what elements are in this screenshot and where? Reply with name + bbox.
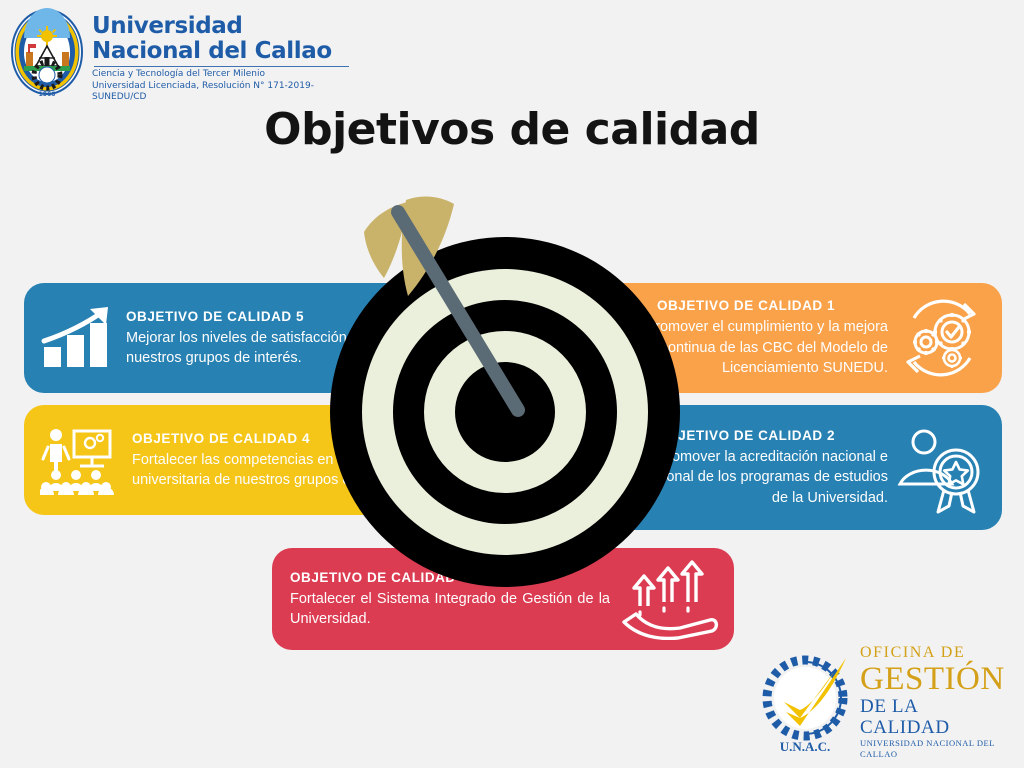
person-award-medal-icon — [894, 422, 986, 514]
wordmark-divider — [94, 66, 349, 67]
university-wordmark: Universidad Nacional del Callao Ciencia … — [92, 8, 368, 104]
ogc-line4: UNIVERSIDAD NACIONAL DEL CALLAO — [860, 738, 1010, 760]
ogc-line2: GESTIÓN — [860, 662, 1010, 696]
ogc-acronym: U.N.A.C. — [780, 739, 831, 754]
bar-chart-growth-icon — [40, 305, 116, 371]
university-name-line1: Universidad — [92, 14, 368, 39]
objective-card-3-body: Fortalecer el Sistema Integrado de Gesti… — [290, 589, 610, 630]
infographic-canvas: 1966 Universidad Nacional del Callao Cie… — [0, 0, 1024, 768]
ogc-wordmark: OFICINA DE GESTIÓN DE LA CALIDAD UNIVERS… — [860, 644, 1010, 760]
ogc-seal-icon: U.N.A.C. — [760, 650, 856, 754]
ogc-line3: DE LA CALIDAD — [860, 696, 1010, 738]
university-tagline-1: Ciencia y Tecnología del Tercer Milenio — [92, 69, 368, 81]
header-logo: 1966 Universidad Nacional del Callao Cie… — [8, 8, 368, 104]
university-name-line2: Nacional del Callao — [92, 39, 368, 64]
gears-check-cycle-icon — [894, 292, 986, 384]
university-tagline-2: Universidad Licenciada, Resolución N° 17… — [92, 81, 368, 104]
page-title: Objetivos de calidad — [0, 104, 1024, 155]
presenter-audience-icon — [40, 425, 122, 495]
ogc-line1: OFICINA DE — [860, 644, 1010, 662]
unac-crest-icon: 1966 — [8, 8, 86, 100]
arrow-with-fletching-icon — [330, 190, 570, 430]
svg-text:1966: 1966 — [39, 91, 56, 98]
footer-logo: U.N.A.C. OFICINA DE GESTIÓN DE LA CALIDA… — [760, 648, 1010, 756]
